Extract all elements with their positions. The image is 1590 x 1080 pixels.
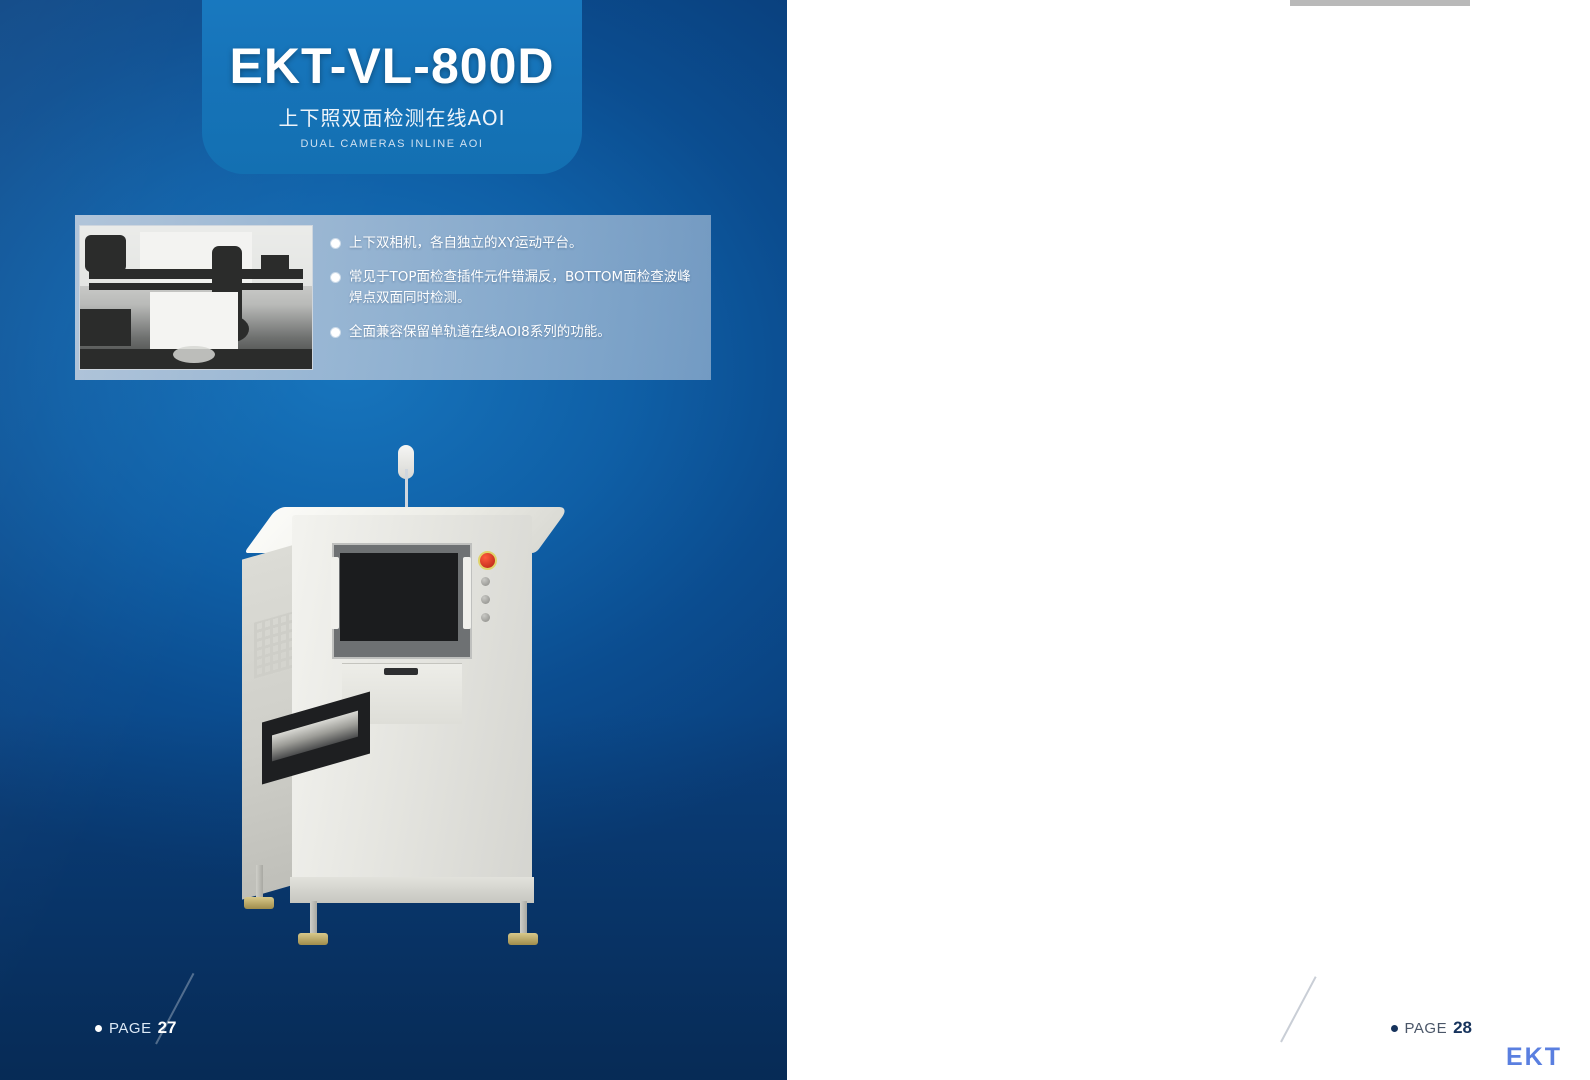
- page-number: 28: [1453, 1018, 1472, 1038]
- banner-inner: EKT-VL-800D 上下照双面检测在线AOI DUAL CAMERAS IN…: [202, 0, 582, 174]
- feature-list: 上下双相机，各自独立的XY运动平台。 常见于TOP面检查插件元件错漏反，BOTT…: [313, 215, 711, 380]
- control-button-icon: [481, 613, 490, 622]
- list-item: 常见于TOP面检查插件元件错漏反，BOTTOM面检查波峰焊点双面同时检测。: [331, 267, 695, 309]
- right-page: TECHNICAL PARAMETERS OF EQUIPMENT 设备技术参数…: [787, 0, 1590, 1080]
- door-handle-left: [331, 557, 339, 629]
- product-subtitle-en: DUAL CAMERAS INLINE AOI: [300, 138, 483, 150]
- machine-leg: [310, 901, 317, 935]
- leveling-foot: [508, 933, 538, 945]
- feature-text: 上下双相机，各自独立的XY运动平台。: [349, 233, 583, 254]
- page-footer-left: PAGE 27: [95, 1018, 177, 1038]
- footer-slash-decor: [1280, 976, 1317, 1042]
- control-button-icon: [481, 577, 490, 586]
- page-label: PAGE: [109, 1020, 152, 1037]
- machine-product-photo: [232, 425, 652, 985]
- top-grey-bar-decor: [1290, 0, 1470, 6]
- feature-text: 全面兼容保留单轨道在线AOI8系列的功能。: [349, 322, 611, 343]
- control-button-icon: [481, 595, 490, 604]
- features-panel: 上下双相机，各自独立的XY运动平台。 常见于TOP面检查插件元件错漏反，BOTT…: [75, 215, 711, 380]
- machine-leg: [520, 901, 527, 935]
- machine-interior-photo: [79, 225, 313, 370]
- machine-base: [290, 877, 534, 903]
- leveling-foot: [298, 933, 328, 945]
- list-item: 全面兼容保留单轨道在线AOI8系列的功能。: [331, 322, 695, 343]
- viewing-window: [340, 553, 458, 641]
- feature-text: 常见于TOP面检查插件元件错漏反，BOTTOM面检查波峰焊点双面同时检测。: [349, 267, 695, 309]
- footer-dot-icon: [95, 1025, 102, 1032]
- product-subtitle-cn: 上下照双面检测在线AOI: [279, 102, 506, 131]
- leveling-foot: [244, 897, 274, 909]
- list-item: 上下双相机，各自独立的XY运动平台。: [331, 233, 695, 254]
- brochure-spread: EKT-VL-800D 上下照双面检测在线AOI DUAL CAMERAS IN…: [0, 0, 1590, 1080]
- brand-logo: EKT: [1506, 1043, 1562, 1072]
- page-footer-right: PAGE 28: [1391, 1018, 1473, 1038]
- door-handle-right: [463, 557, 471, 629]
- machine-leg: [256, 865, 263, 899]
- footer-dot-icon: [1391, 1025, 1398, 1032]
- drawer-handle: [384, 668, 418, 675]
- left-page: EKT-VL-800D 上下照双面检测在线AOI DUAL CAMERAS IN…: [0, 0, 787, 1080]
- bullet-icon: [331, 328, 340, 337]
- product-model-name: EKT-VL-800D: [230, 40, 555, 93]
- product-title-banner: EKT-VL-800D 上下照双面检测在线AOI DUAL CAMERAS IN…: [202, 0, 582, 174]
- emergency-stop-icon: [478, 551, 497, 570]
- page-label: PAGE: [1405, 1020, 1448, 1037]
- bullet-icon: [331, 273, 340, 282]
- bullet-icon: [331, 239, 340, 248]
